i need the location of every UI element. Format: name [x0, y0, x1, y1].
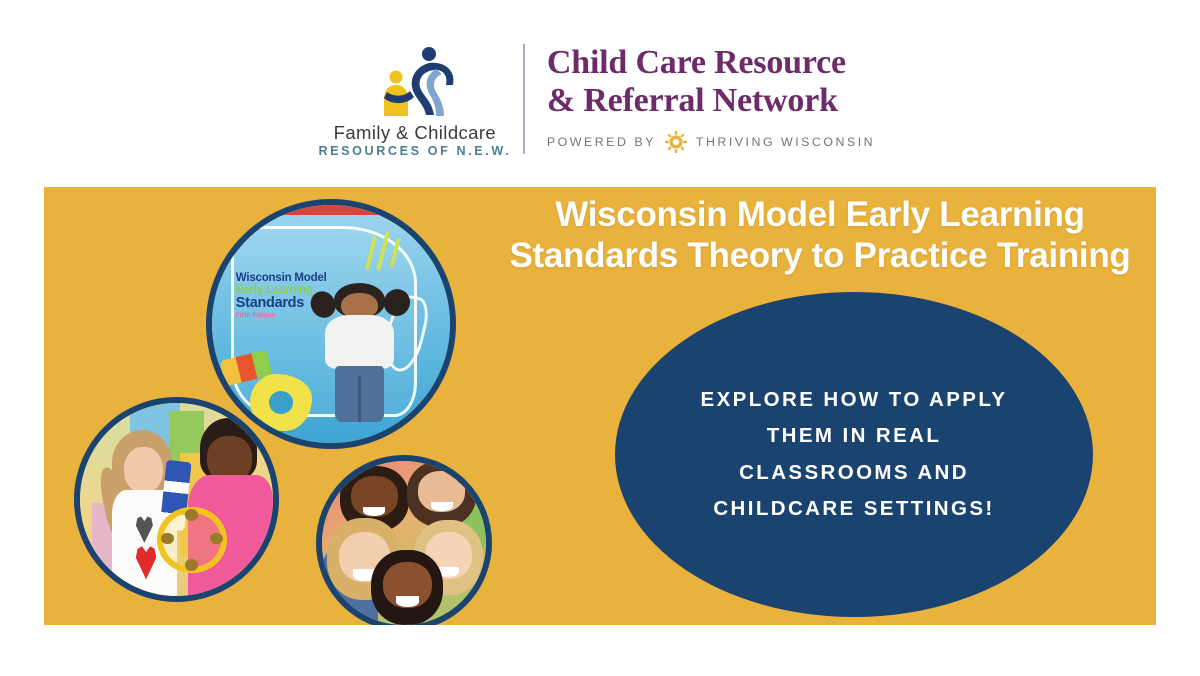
tambourine-icon	[157, 507, 226, 573]
fcrnew-wordmark-top: Family & Childcare	[334, 123, 496, 143]
promo-title-line2: Standards Theory to Practice Training	[470, 236, 1156, 277]
promo-title: Wisconsin Model Early Learning Standards…	[470, 195, 1156, 277]
family-childcare-figures-icon	[374, 45, 456, 123]
logo-divider	[523, 44, 525, 154]
fcrnew-logo[interactable]: Family & Childcare RESOURCES OF N.E.W.	[325, 40, 505, 158]
tagline-prefix: POWERED BY	[547, 135, 656, 149]
ccrrn-title-line1: Child Care Resource	[547, 44, 875, 82]
promo-title-line1: Wisconsin Model Early Learning	[470, 195, 1156, 236]
promo-banner: Wisconsin Model Early Learning Standards…	[44, 187, 1156, 625]
book-spine-accent	[260, 205, 417, 215]
cta-ellipse: EXPLORE HOW TO APPLY THEM IN REAL CLASSR…	[615, 292, 1093, 617]
child-face-top-right	[407, 461, 476, 527]
children-instruments-photo	[74, 397, 279, 602]
fcrnew-wordmark-bottom: RESOURCES OF N.E.W.	[318, 144, 511, 158]
powered-by-tagline: POWERED BY THRIV	[547, 131, 875, 153]
book-title-line1: Wisconsin Model	[236, 272, 384, 284]
ccrrn-logo[interactable]: Child Care Resource & Referral Network P…	[547, 39, 875, 159]
tagline-suffix: THRIVING WISCONSIN	[696, 135, 875, 149]
cta-ellipse-text: EXPLORE HOW TO APPLY THEM IN REAL CLASSR…	[689, 382, 1019, 528]
brand-header: Family & Childcare RESOURCES OF N.E.W. C…	[0, 36, 1200, 161]
ccrrn-title-line2: & Referral Network	[547, 82, 875, 120]
jumping-child-figure	[324, 286, 395, 419]
child-face-bottom	[371, 550, 443, 625]
children-group-photo	[316, 455, 492, 625]
thriving-wisconsin-sun-icon	[665, 131, 687, 153]
